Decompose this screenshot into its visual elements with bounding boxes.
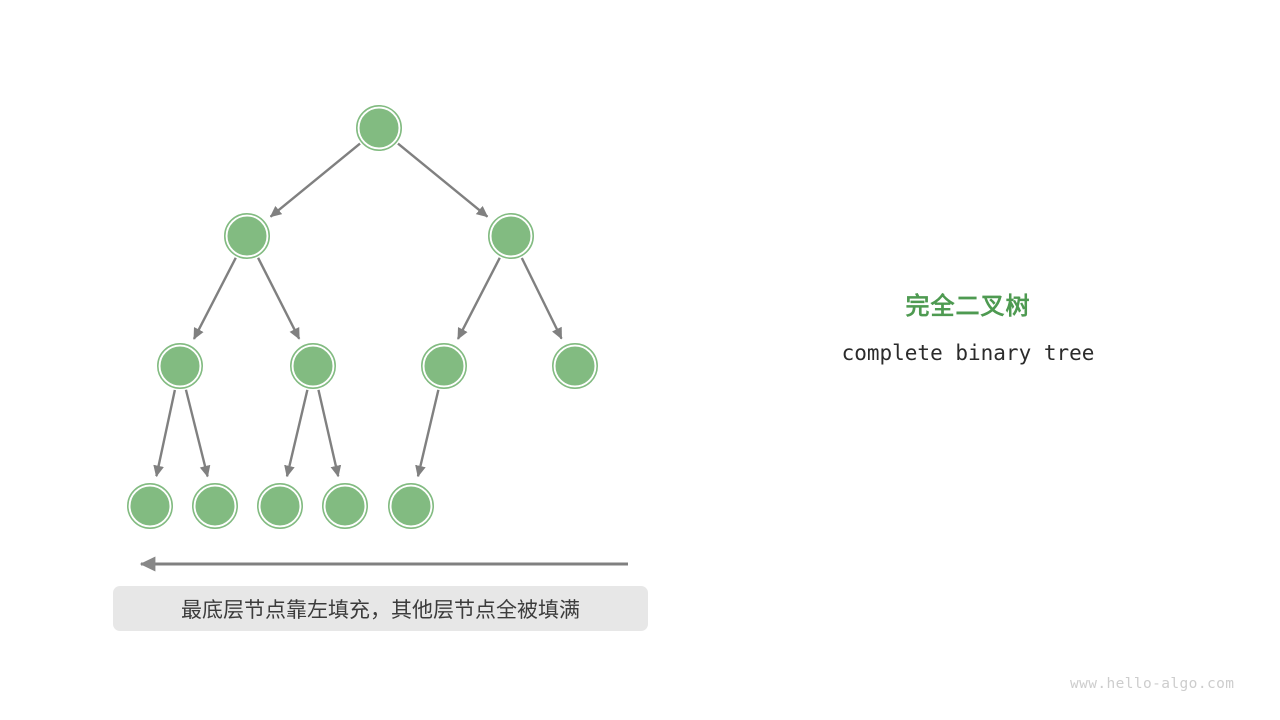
tree-node	[128, 484, 172, 528]
tree-edge	[271, 144, 360, 217]
legend-title: 完全二叉树	[780, 292, 1156, 322]
tree-node	[357, 106, 401, 150]
tree-node-disc	[360, 109, 398, 147]
tree-edge	[318, 390, 338, 476]
tree-node	[422, 344, 466, 388]
tree-node-disc	[326, 487, 364, 525]
tree-node	[193, 484, 237, 528]
tree-node-disc	[425, 347, 463, 385]
tree-node	[158, 344, 202, 388]
tree-node	[291, 344, 335, 388]
legend-block: 完全二叉树 complete binary tree	[780, 292, 1156, 367]
tree-node-disc	[131, 487, 169, 525]
caption-text: 最底层节点靠左填充，其他层节点全被填满	[181, 594, 580, 624]
tree-edge	[156, 390, 174, 476]
tree-edge	[194, 258, 236, 339]
tree-node	[323, 484, 367, 528]
tree-node	[553, 344, 597, 388]
tree-node-disc	[492, 217, 530, 255]
tree-node-layer	[128, 106, 597, 528]
tree-node-disc	[161, 347, 199, 385]
legend-subtitle: complete binary tree	[780, 339, 1156, 367]
tree-edge	[458, 258, 500, 339]
tree-node-disc	[228, 217, 266, 255]
tree-node	[225, 214, 269, 258]
tree-node	[389, 484, 433, 528]
caption-box: 最底层节点靠左填充，其他层节点全被填满	[113, 586, 648, 631]
tree-node-disc	[392, 487, 430, 525]
tree-node-disc	[556, 347, 594, 385]
tree-node	[489, 214, 533, 258]
tree-edge	[418, 390, 438, 476]
tree-edge	[186, 390, 208, 477]
tree-edge	[522, 258, 562, 339]
tree-node-disc	[294, 347, 332, 385]
tree-edge	[287, 390, 307, 476]
watermark: www.hello-algo.com	[1070, 676, 1234, 692]
tree-edge-layer	[156, 144, 561, 477]
tree-edge	[258, 258, 299, 339]
tree-node-disc	[196, 487, 234, 525]
tree-edge	[398, 144, 487, 217]
tree-node-disc	[261, 487, 299, 525]
tree-node	[258, 484, 302, 528]
